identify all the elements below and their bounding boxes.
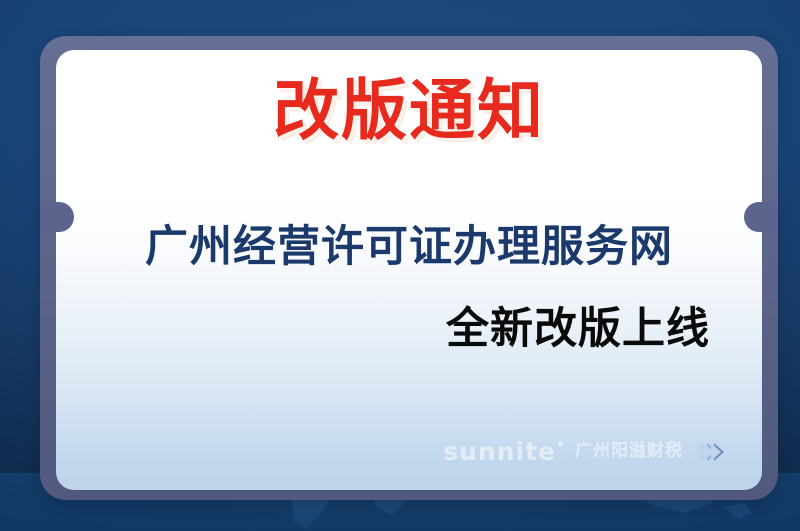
brand-logo: sunnite 广州阳溢财税 [443,439,724,464]
page-title: 改版通知 [56,78,762,144]
brand-dot-icon [558,441,563,446]
triple-chevron-right-icon [703,443,724,461]
frame-notch-right [744,202,778,232]
site-name-line: 广州经营许可证办理服务网 [56,226,762,269]
brand-company-name: 广州阳溢财税 [575,443,683,460]
poster-card: 改版通知 广州经营许可证办理服务网 全新改版上线 sunnite 广州阳溢财税 [56,50,762,490]
announcement-poster: 改版通知 广州经营许可证办理服务网 全新改版上线 sunnite 广州阳溢财税 [0,0,800,531]
frame-notch-left [40,202,74,232]
chevron-right-icon-3 [714,443,724,461]
relaunch-line: 全新改版上线 [446,308,710,351]
brand-wordmark: sunnite [443,439,561,464]
brand-wordmark-text: sunnite [443,437,556,466]
